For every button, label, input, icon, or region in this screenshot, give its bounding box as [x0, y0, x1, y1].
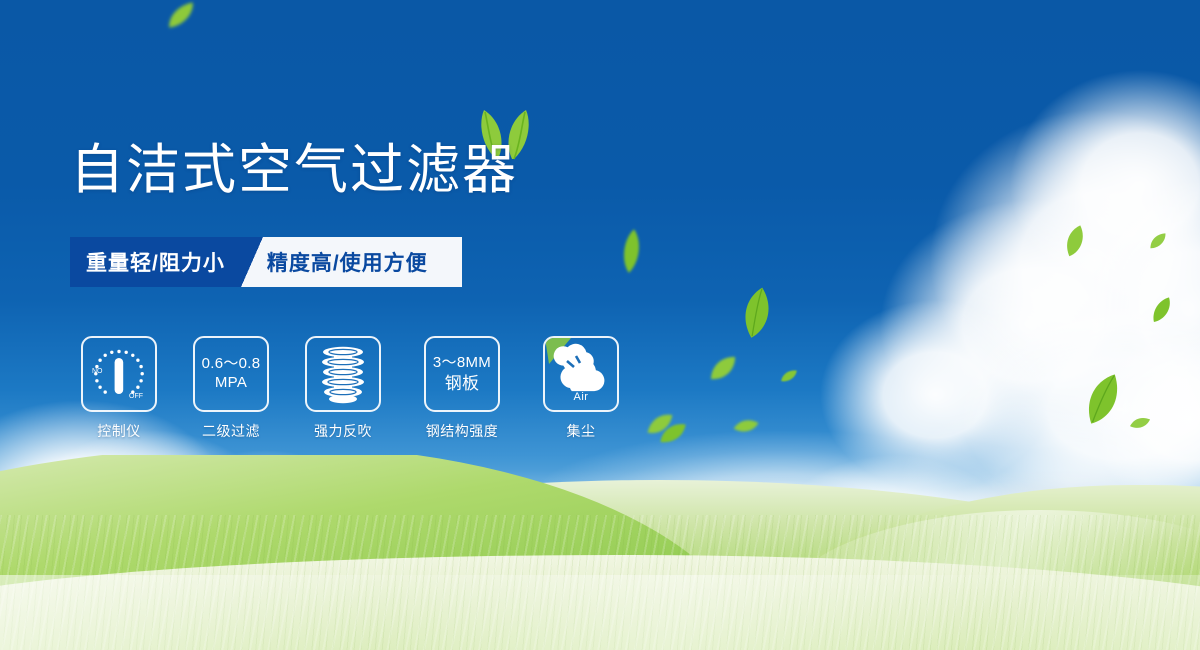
gauge-off-label: OFF: [129, 393, 143, 400]
subtitle-right: 精度高/使用方便: [263, 237, 462, 287]
steel-material: 钢板: [433, 373, 491, 394]
feature-item-blowback[interactable]: 强力反吹: [302, 336, 384, 441]
subtitle-slant-divider: [241, 237, 263, 287]
banner-content: 自洁式空气过滤器 重量轻/阻力小 精度高/使用方便: [0, 0, 1200, 650]
page-title: 自洁式空气过滤器: [70, 143, 518, 197]
feature-icon-box: 0.6～0.8 MPA: [193, 336, 269, 412]
feature-label: 集尘: [567, 421, 596, 441]
feature-icon-box: NO OFF: [81, 336, 157, 412]
feature-label: 钢结构强度: [426, 421, 499, 441]
filter-cartridge-icon: [315, 343, 371, 405]
gauge-control-icon: NO OFF: [86, 341, 152, 407]
pressure-value: 0.6～0.8: [202, 355, 261, 374]
steel-thickness: 3～8MM: [433, 354, 491, 373]
steel-plate-text-icon: 3～8MM 钢板: [433, 354, 491, 394]
product-banner: 自洁式空气过滤器 重量轻/阻力小 精度高/使用方便: [0, 0, 1200, 650]
pressure-text-icon: 0.6～0.8 MPA: [202, 355, 261, 393]
feature-icon-box: [305, 336, 381, 412]
subtitle-left: 重量轻/阻力小: [70, 237, 241, 287]
air-label: Air: [545, 391, 617, 403]
feature-icon-box: Air: [543, 336, 619, 412]
feature-item-dust-collection[interactable]: Air 集尘: [540, 336, 622, 441]
feature-icon-box: 3～8MM 钢板: [424, 336, 500, 412]
feature-label: 控制仪: [97, 421, 141, 441]
feature-item-steel-strength[interactable]: 3～8MM 钢板 钢结构强度: [414, 336, 510, 441]
feature-list: NO OFF 控制仪 0.6～0.8 MPA 二级过滤: [78, 336, 622, 441]
feature-label: 强力反吹: [314, 421, 372, 441]
feature-item-control[interactable]: NO OFF 控制仪: [78, 336, 160, 441]
feature-label: 二级过滤: [202, 421, 260, 441]
feature-item-filter-stage[interactable]: 0.6～0.8 MPA 二级过滤: [190, 336, 272, 441]
pressure-unit: MPA: [202, 374, 261, 393]
subtitle-ribbon: 重量轻/阻力小 精度高/使用方便: [70, 237, 462, 287]
gauge-on-label: NO: [92, 368, 103, 375]
